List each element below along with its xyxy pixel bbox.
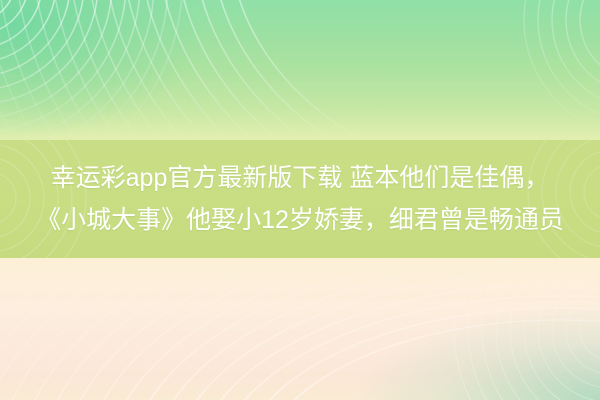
title-text-block: 幸运彩app官方最新版下载 蓝本他们是佳偶， 《小城大事》他娶小12岁娇妻，细君… bbox=[0, 140, 600, 258]
headline-line-2: 《小城大事》他娶小12岁娇妻，细君曾是畅通员 bbox=[36, 201, 564, 239]
title-band: 幸运彩app官方最新版下载 蓝本他们是佳偶， 《小城大事》他娶小12岁娇妻，细君… bbox=[0, 140, 600, 258]
headline-line-1: 幸运彩app官方最新版下载 蓝本他们是佳偶， bbox=[51, 159, 550, 197]
promo-banner: 幸运彩app官方最新版下载 蓝本他们是佳偶， 《小城大事》他娶小12岁娇妻，细君… bbox=[0, 0, 600, 400]
